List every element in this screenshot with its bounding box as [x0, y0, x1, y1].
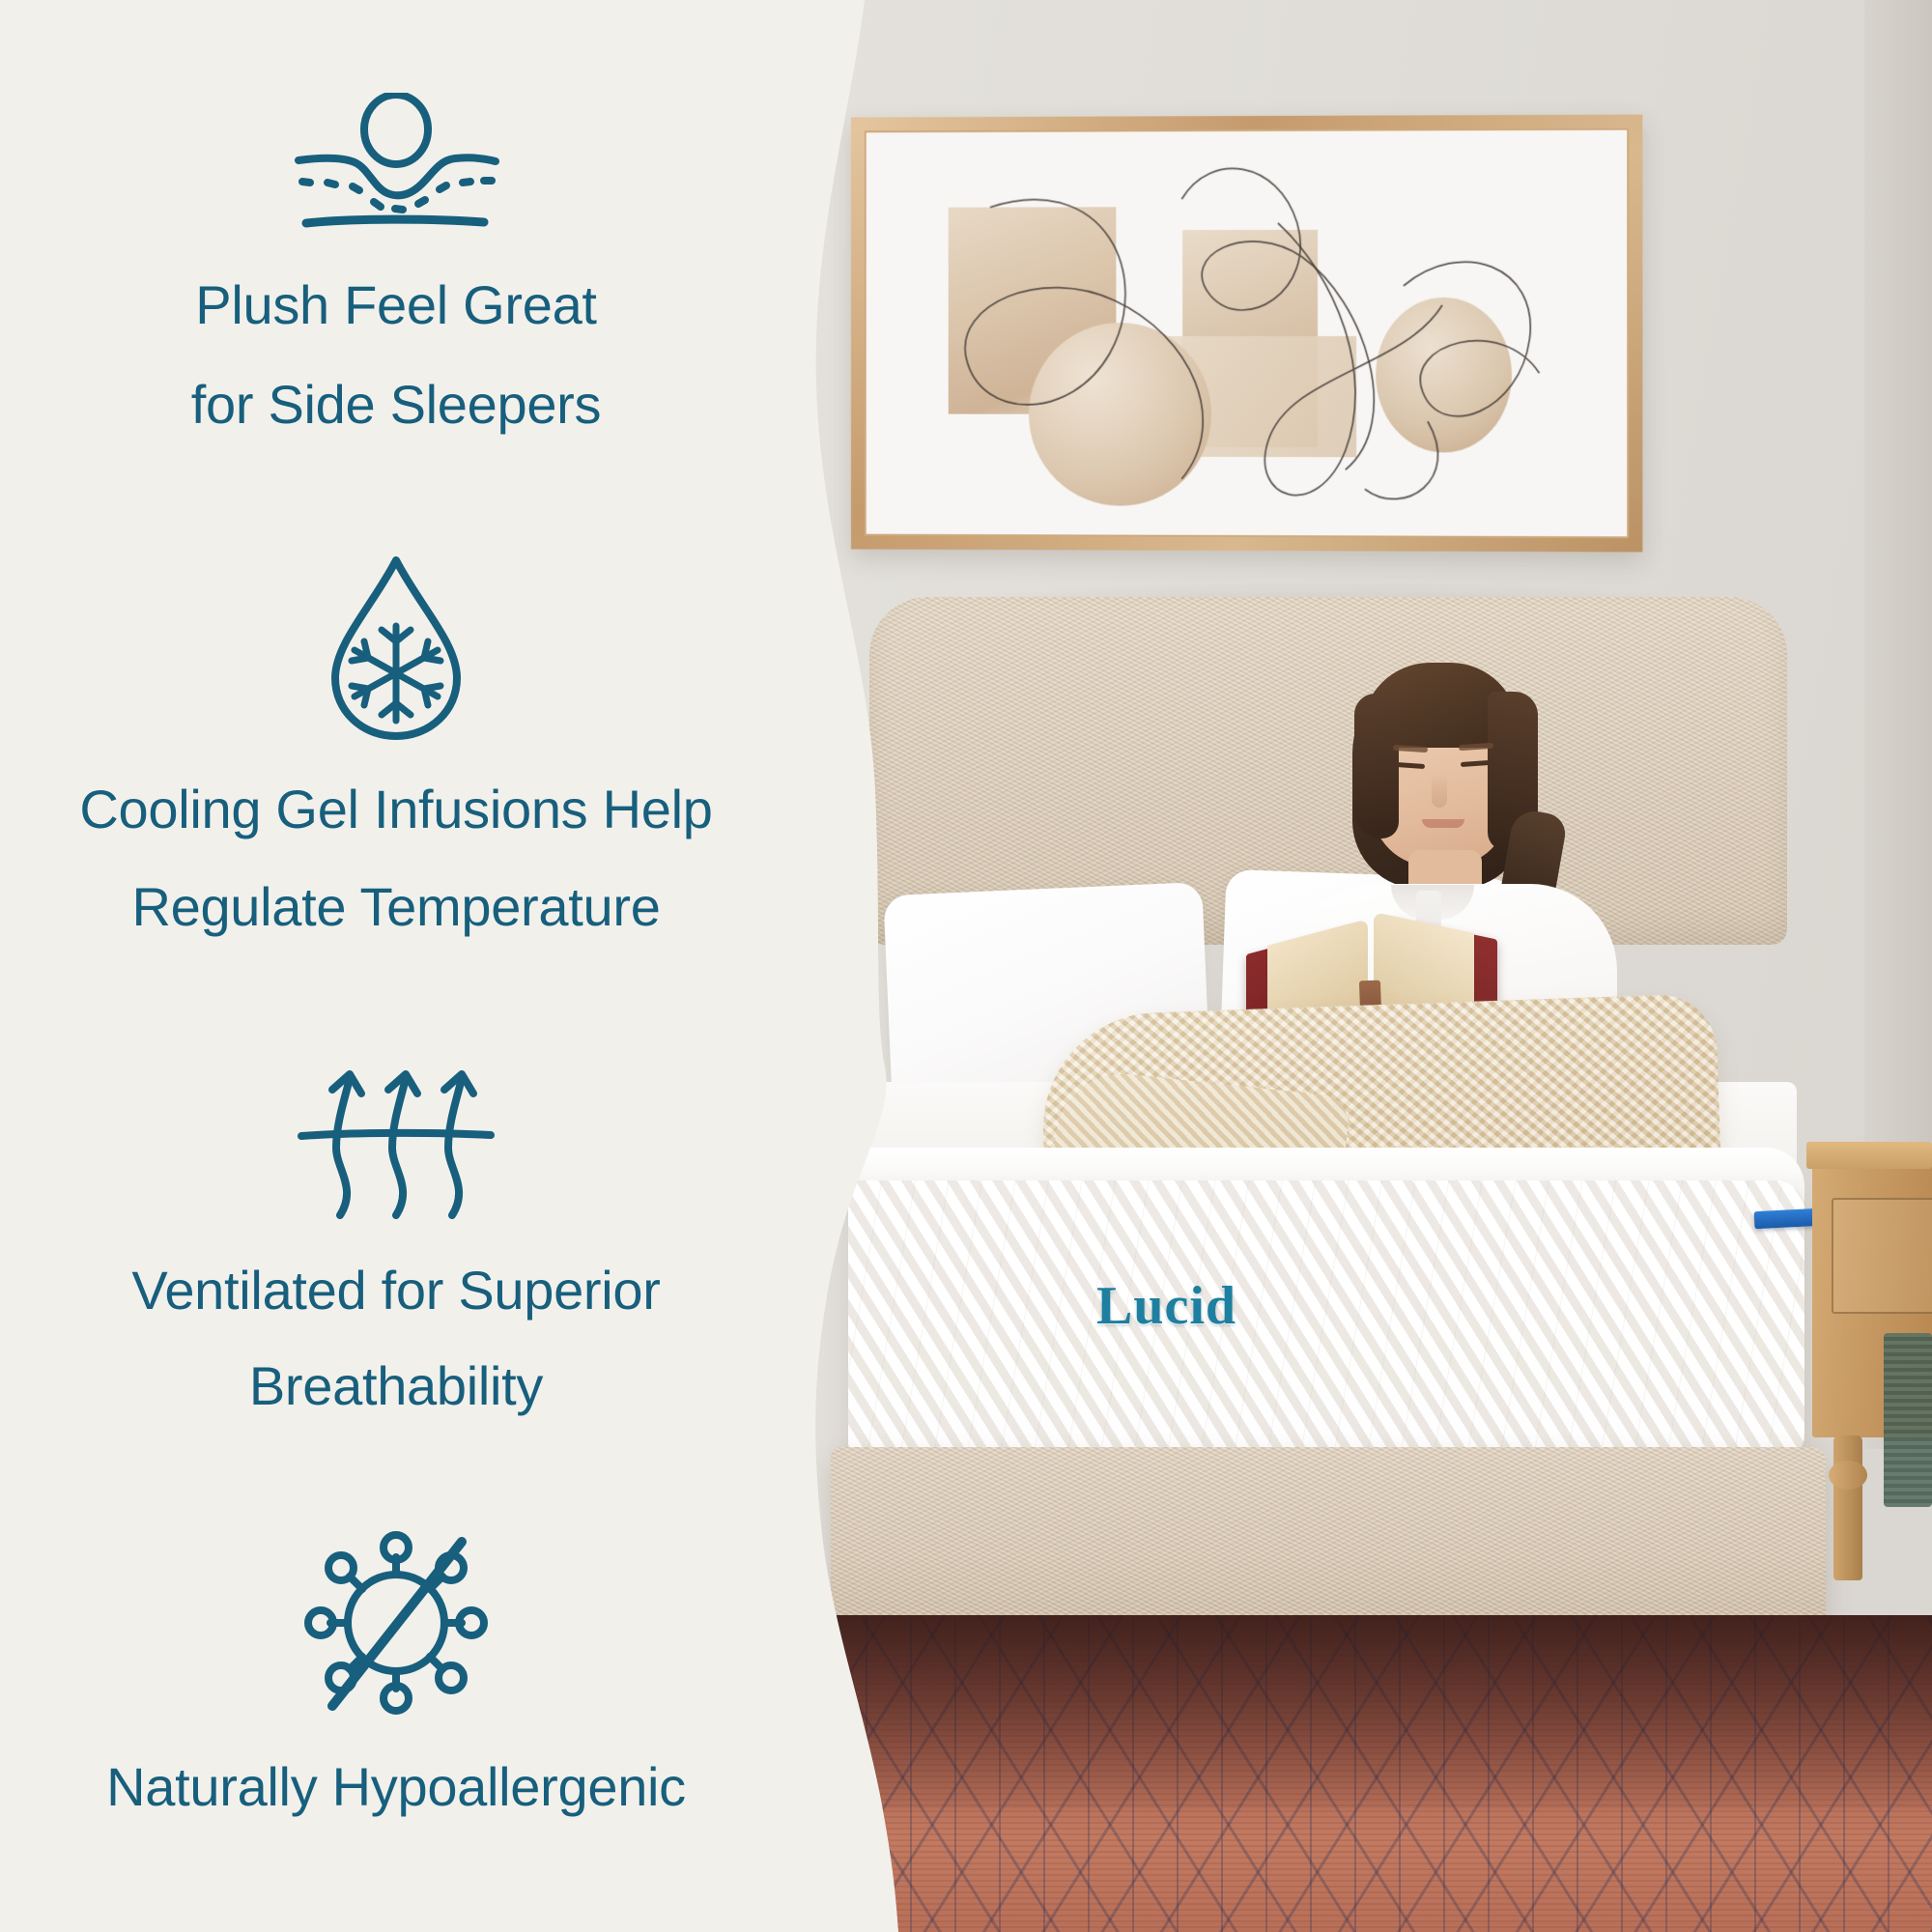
woven-basket — [1884, 1333, 1932, 1507]
mouth — [1422, 819, 1464, 828]
body-contour-sinking-icon — [285, 93, 507, 238]
feature-label-line1: Naturally Hypoallergenic — [0, 1754, 792, 1819]
rug-shadow — [821, 1615, 1932, 1808]
art-squiggle-lines — [867, 130, 1627, 537]
feature-cooling-gel: Cooling Gel Infusions Help Regulate Temp… — [0, 551, 792, 939]
bed-base-frame — [831, 1447, 1826, 1640]
nightstand-leg — [1833, 1435, 1862, 1580]
nightstand-drawer — [1832, 1198, 1932, 1314]
mattress-lucid-logo: Lucid — [1096, 1275, 1236, 1337]
feature-label-line2: Regulate Temperature — [0, 874, 792, 939]
feature-plush-side-sleepers: Plush Feel Great for Side Sleepers — [0, 93, 792, 437]
nose — [1432, 773, 1447, 808]
hair-left — [1354, 694, 1399, 838]
water-drop-snowflake-icon — [314, 551, 478, 744]
nightstand-top — [1806, 1142, 1932, 1169]
framed-wall-art — [851, 115, 1642, 553]
art-canvas — [867, 130, 1627, 537]
features-panel: Plush Feel Great for Side Sleepers — [0, 0, 927, 1932]
feature-label-line2: Breathability — [0, 1353, 792, 1418]
allergen-blocked-icon — [299, 1526, 493, 1719]
feature-hypoallergenic: Naturally Hypoallergenic — [0, 1526, 792, 1819]
lucid-mattress — [848, 1180, 1804, 1461]
feature-label-line2: for Side Sleepers — [0, 372, 792, 437]
marketing-image: Lucid — [0, 0, 1932, 1932]
feature-label-line1: Plush Feel Great — [0, 272, 792, 337]
airflow-arrows-icon — [290, 1053, 502, 1227]
feature-label-line1: Cooling Gel Infusions Help — [0, 777, 792, 841]
feature-ventilated-breathability: Ventilated for Superior Breathability — [0, 1053, 792, 1418]
feature-label-line1: Ventilated for Superior — [0, 1258, 792, 1322]
